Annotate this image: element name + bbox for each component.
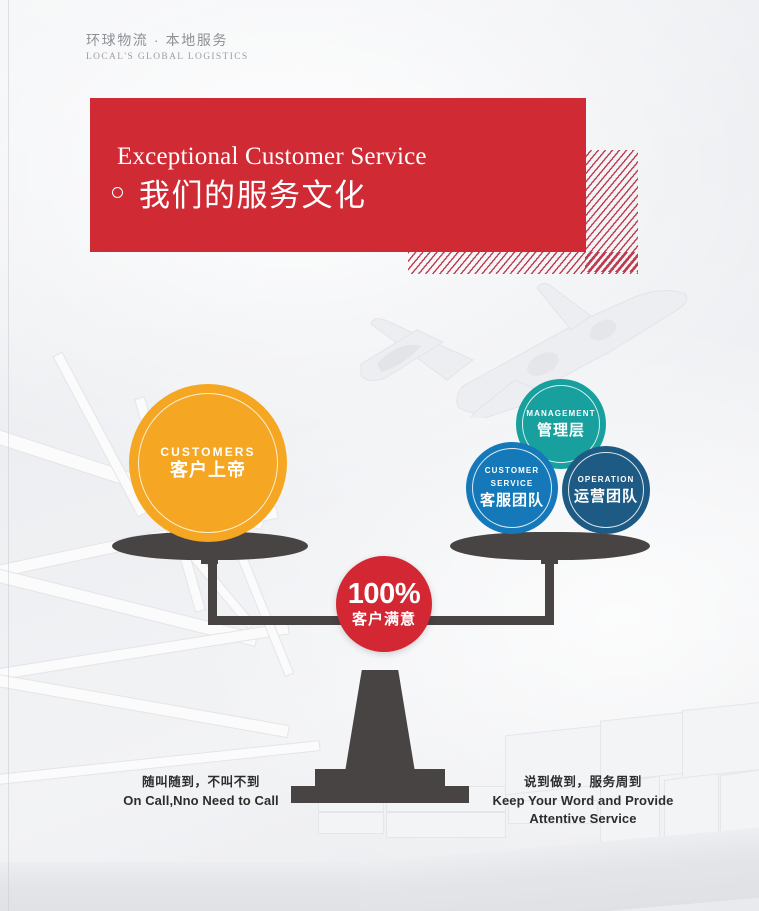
caption-right-english-line1: Keep Your Word and Provide	[478, 792, 688, 810]
bubble-customers-label-cn: 客户上帝	[170, 459, 246, 481]
slide-canvas: 环球物流 · 本地服务 LOCAL'S GLOBAL LOGISTICS Exc…	[0, 0, 759, 911]
logo-english-text: LOCAL'S GLOBAL LOGISTICS	[86, 50, 249, 64]
banner-title-chinese: 我们的服务文化	[139, 170, 367, 215]
hatch-pattern-bottom	[408, 252, 638, 274]
bubble-customers-label-en: CUSTOMERS	[160, 446, 255, 459]
bubble-customer-service-label-en-line1: CUSTOMER	[485, 464, 539, 477]
bubble-operation[interactable]: OPERATION 运营团队	[562, 446, 650, 534]
caption-right: 说到做到，服务周到 Keep Your Word and Provide Att…	[478, 773, 688, 828]
satisfaction-label-cn: 客户满意	[352, 610, 416, 629]
banner-title-english: Exceptional Customer Service	[117, 143, 427, 171]
circle-outline-icon	[112, 187, 123, 198]
caption-left-english: On Call,Nno Need to Call	[108, 792, 294, 810]
bubble-customer-service[interactable]: CUSTOMER SERVICE 客服团队	[466, 442, 558, 534]
bubble-customers[interactable]: CUSTOMERS 客户上帝	[129, 384, 287, 542]
caption-left: 随叫随到，不叫不到 On Call,Nno Need to Call	[108, 773, 294, 810]
caption-right-chinese: 说到做到，服务周到	[478, 773, 688, 792]
bubble-management-label-cn: 管理层	[537, 420, 585, 442]
scale-base-upper-step	[315, 769, 445, 786]
caption-right-english-line2: Attentive Service	[478, 810, 688, 828]
scale-column	[345, 670, 415, 772]
bubble-satisfaction[interactable]: 100% 客户满意	[336, 556, 432, 652]
bubble-customer-service-label-cn: 客服团队	[480, 490, 544, 512]
bubble-operation-label-en: OPERATION	[578, 473, 635, 486]
logo-chinese-text: 环球物流 · 本地服务	[86, 31, 249, 50]
satisfaction-percentage: 100%	[348, 579, 421, 610]
banner-title-chinese-row: 我们的服务文化	[112, 170, 367, 215]
left-edge-rule	[8, 0, 9, 911]
brand-logo: 环球物流 · 本地服务 LOCAL'S GLOBAL LOGISTICS	[86, 31, 249, 64]
caption-left-chinese: 随叫随到，不叫不到	[108, 773, 294, 792]
bubble-management-label-en: MANAGEMENT	[526, 407, 595, 420]
title-banner: Exceptional Customer Service 我们的服务文化	[90, 98, 586, 252]
bubble-customer-service-label-en-line2: SERVICE	[491, 477, 534, 490]
bubble-operation-label-cn: 运营团队	[574, 486, 638, 508]
scale-base-lower-step	[291, 786, 469, 803]
scale-tray-right	[450, 532, 650, 560]
